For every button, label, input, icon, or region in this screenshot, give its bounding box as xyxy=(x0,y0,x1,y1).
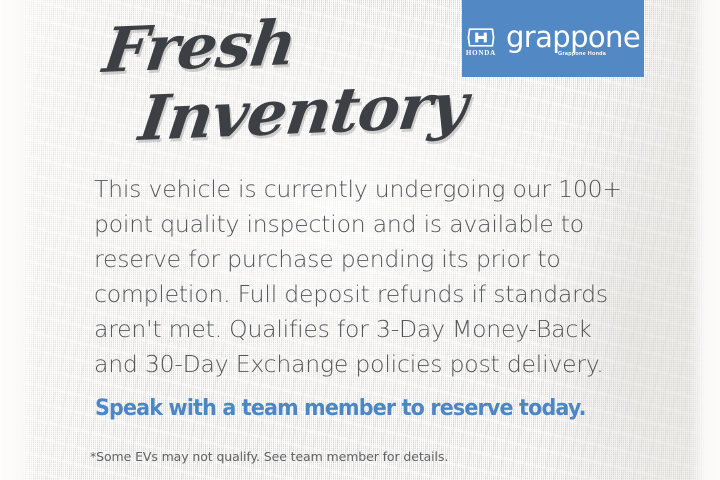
cta-text[interactable]: Speak with a team member to reserve toda… xyxy=(95,396,586,422)
disclaimer-text: *Some EVs may not qualify. See team memb… xyxy=(90,449,448,465)
honda-mark: HONDA xyxy=(466,27,496,57)
grappone-subtext: Grappone Honda xyxy=(558,52,606,58)
honda-wordmark: HONDA xyxy=(466,50,496,57)
grappone-honda-logo-badge[interactable]: HONDA grappone Grappone Honda xyxy=(462,0,644,77)
fresh-inventory-banner: HONDA grappone Grappone Honda Fresh Inve… xyxy=(0,0,720,480)
body-paragraph: This vehicle is currently undergoing our… xyxy=(94,172,634,382)
left-margin-strip xyxy=(0,0,36,480)
grappone-wordmark: grappone xyxy=(506,24,640,51)
right-margin-strip xyxy=(690,0,720,480)
grappone-block: grappone Grappone Honda xyxy=(506,24,640,57)
honda-emblem-icon xyxy=(466,27,496,48)
